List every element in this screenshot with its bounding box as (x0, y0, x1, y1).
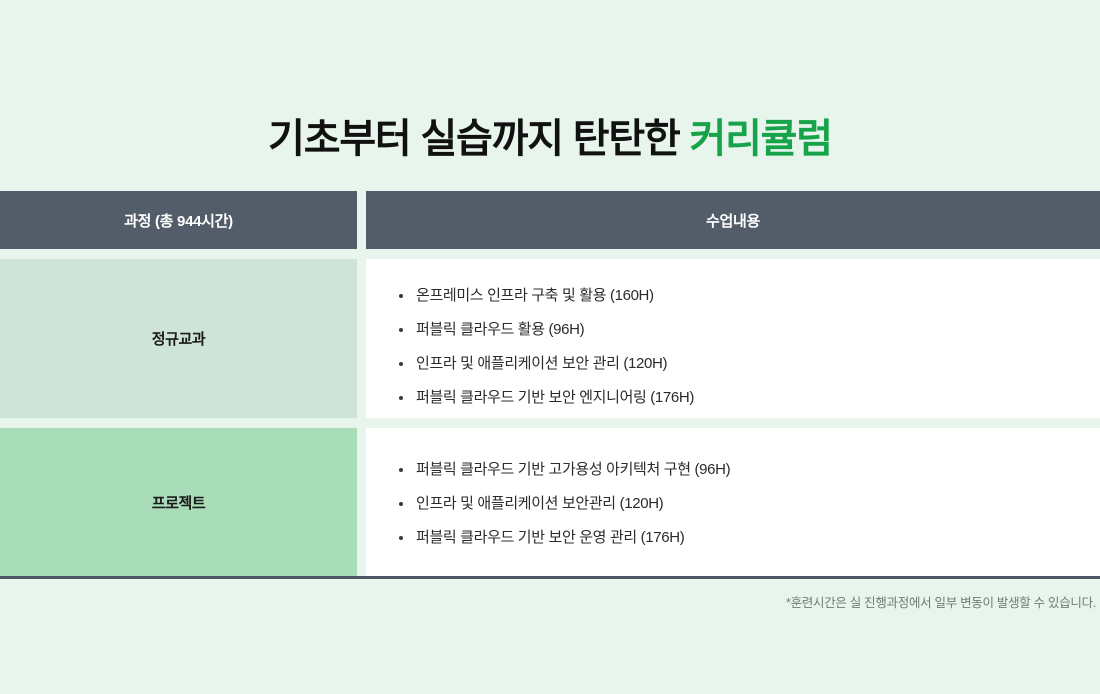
table-header-row: 과정 (총 944시간) 수업내용 (0, 191, 1100, 249)
page-title: 기초부터 실습까지 탄탄한 커리큘럼 (0, 115, 1100, 163)
lesson-list-regular: 온프레미스 인프라 구축 및 활용 (160H) 퍼블릭 클라우드 활용 (96… (366, 259, 1100, 415)
row-content-cell-regular: 온프레미스 인프라 구축 및 활용 (160H) 퍼블릭 클라우드 활용 (96… (366, 259, 1100, 418)
list-item: 인프라 및 애플리케이션 보안관리 (120H) (397, 487, 1100, 521)
row-label-project: 프로젝트 (152, 492, 206, 513)
list-item: 퍼블릭 클라우드 기반 고가용성 아키텍처 구현 (96H) (397, 453, 1100, 487)
column-divider (357, 259, 366, 418)
list-item: 퍼블릭 클라우드 활용 (96H) (397, 313, 1100, 347)
table-row: 정규교과 온프레미스 인프라 구축 및 활용 (160H) 퍼블릭 클라우드 활… (0, 259, 1100, 418)
curriculum-page: 기초부터 실습까지 탄탄한 커리큘럼 과정 (총 944시간) 수업내용 정규교… (0, 0, 1100, 694)
list-item: 퍼블릭 클라우드 기반 보안 엔지니어링 (176H) (397, 381, 1100, 415)
page-title-plain: 기초부터 실습까지 탄탄한 (268, 117, 689, 161)
page-title-accent: 커리큘럼 (689, 117, 831, 161)
curriculum-table: 과정 (총 944시간) 수업내용 정규교과 온프레미스 인프라 구축 및 활용… (0, 191, 1100, 579)
header-content-label: 수업내용 (706, 210, 760, 231)
list-item: 퍼블릭 클라우드 기반 보안 운영 관리 (176H) (397, 521, 1100, 555)
header-cell-content: 수업내용 (366, 191, 1100, 249)
row-label-cell-regular: 정규교과 (0, 259, 357, 418)
footnote: *훈련시간은 실 진행과정에서 일부 변동이 발생할 수 있습니다. (786, 592, 1096, 611)
header-cell-course: 과정 (총 944시간) (0, 191, 357, 249)
page-title-container: 기초부터 실습까지 탄탄한 커리큘럼 (0, 88, 1100, 190)
table-row: 프로젝트 퍼블릭 클라우드 기반 고가용성 아키텍처 구현 (96H) 인프라 … (0, 428, 1100, 576)
list-item: 온프레미스 인프라 구축 및 활용 (160H) (397, 279, 1100, 313)
row-label-cell-project: 프로젝트 (0, 428, 357, 576)
lesson-list-project: 퍼블릭 클라우드 기반 고가용성 아키텍처 구현 (96H) 인프라 및 애플리… (366, 428, 1100, 555)
list-item: 인프라 및 애플리케이션 보안 관리 (120H) (397, 347, 1100, 381)
column-divider (357, 191, 366, 249)
header-course-label: 과정 (총 944시간) (124, 210, 233, 231)
row-content-cell-project: 퍼블릭 클라우드 기반 고가용성 아키텍처 구현 (96H) 인프라 및 애플리… (366, 428, 1100, 576)
column-divider (357, 428, 366, 576)
row-label-regular: 정규교과 (152, 328, 206, 349)
table-bottom-border (0, 576, 1100, 579)
